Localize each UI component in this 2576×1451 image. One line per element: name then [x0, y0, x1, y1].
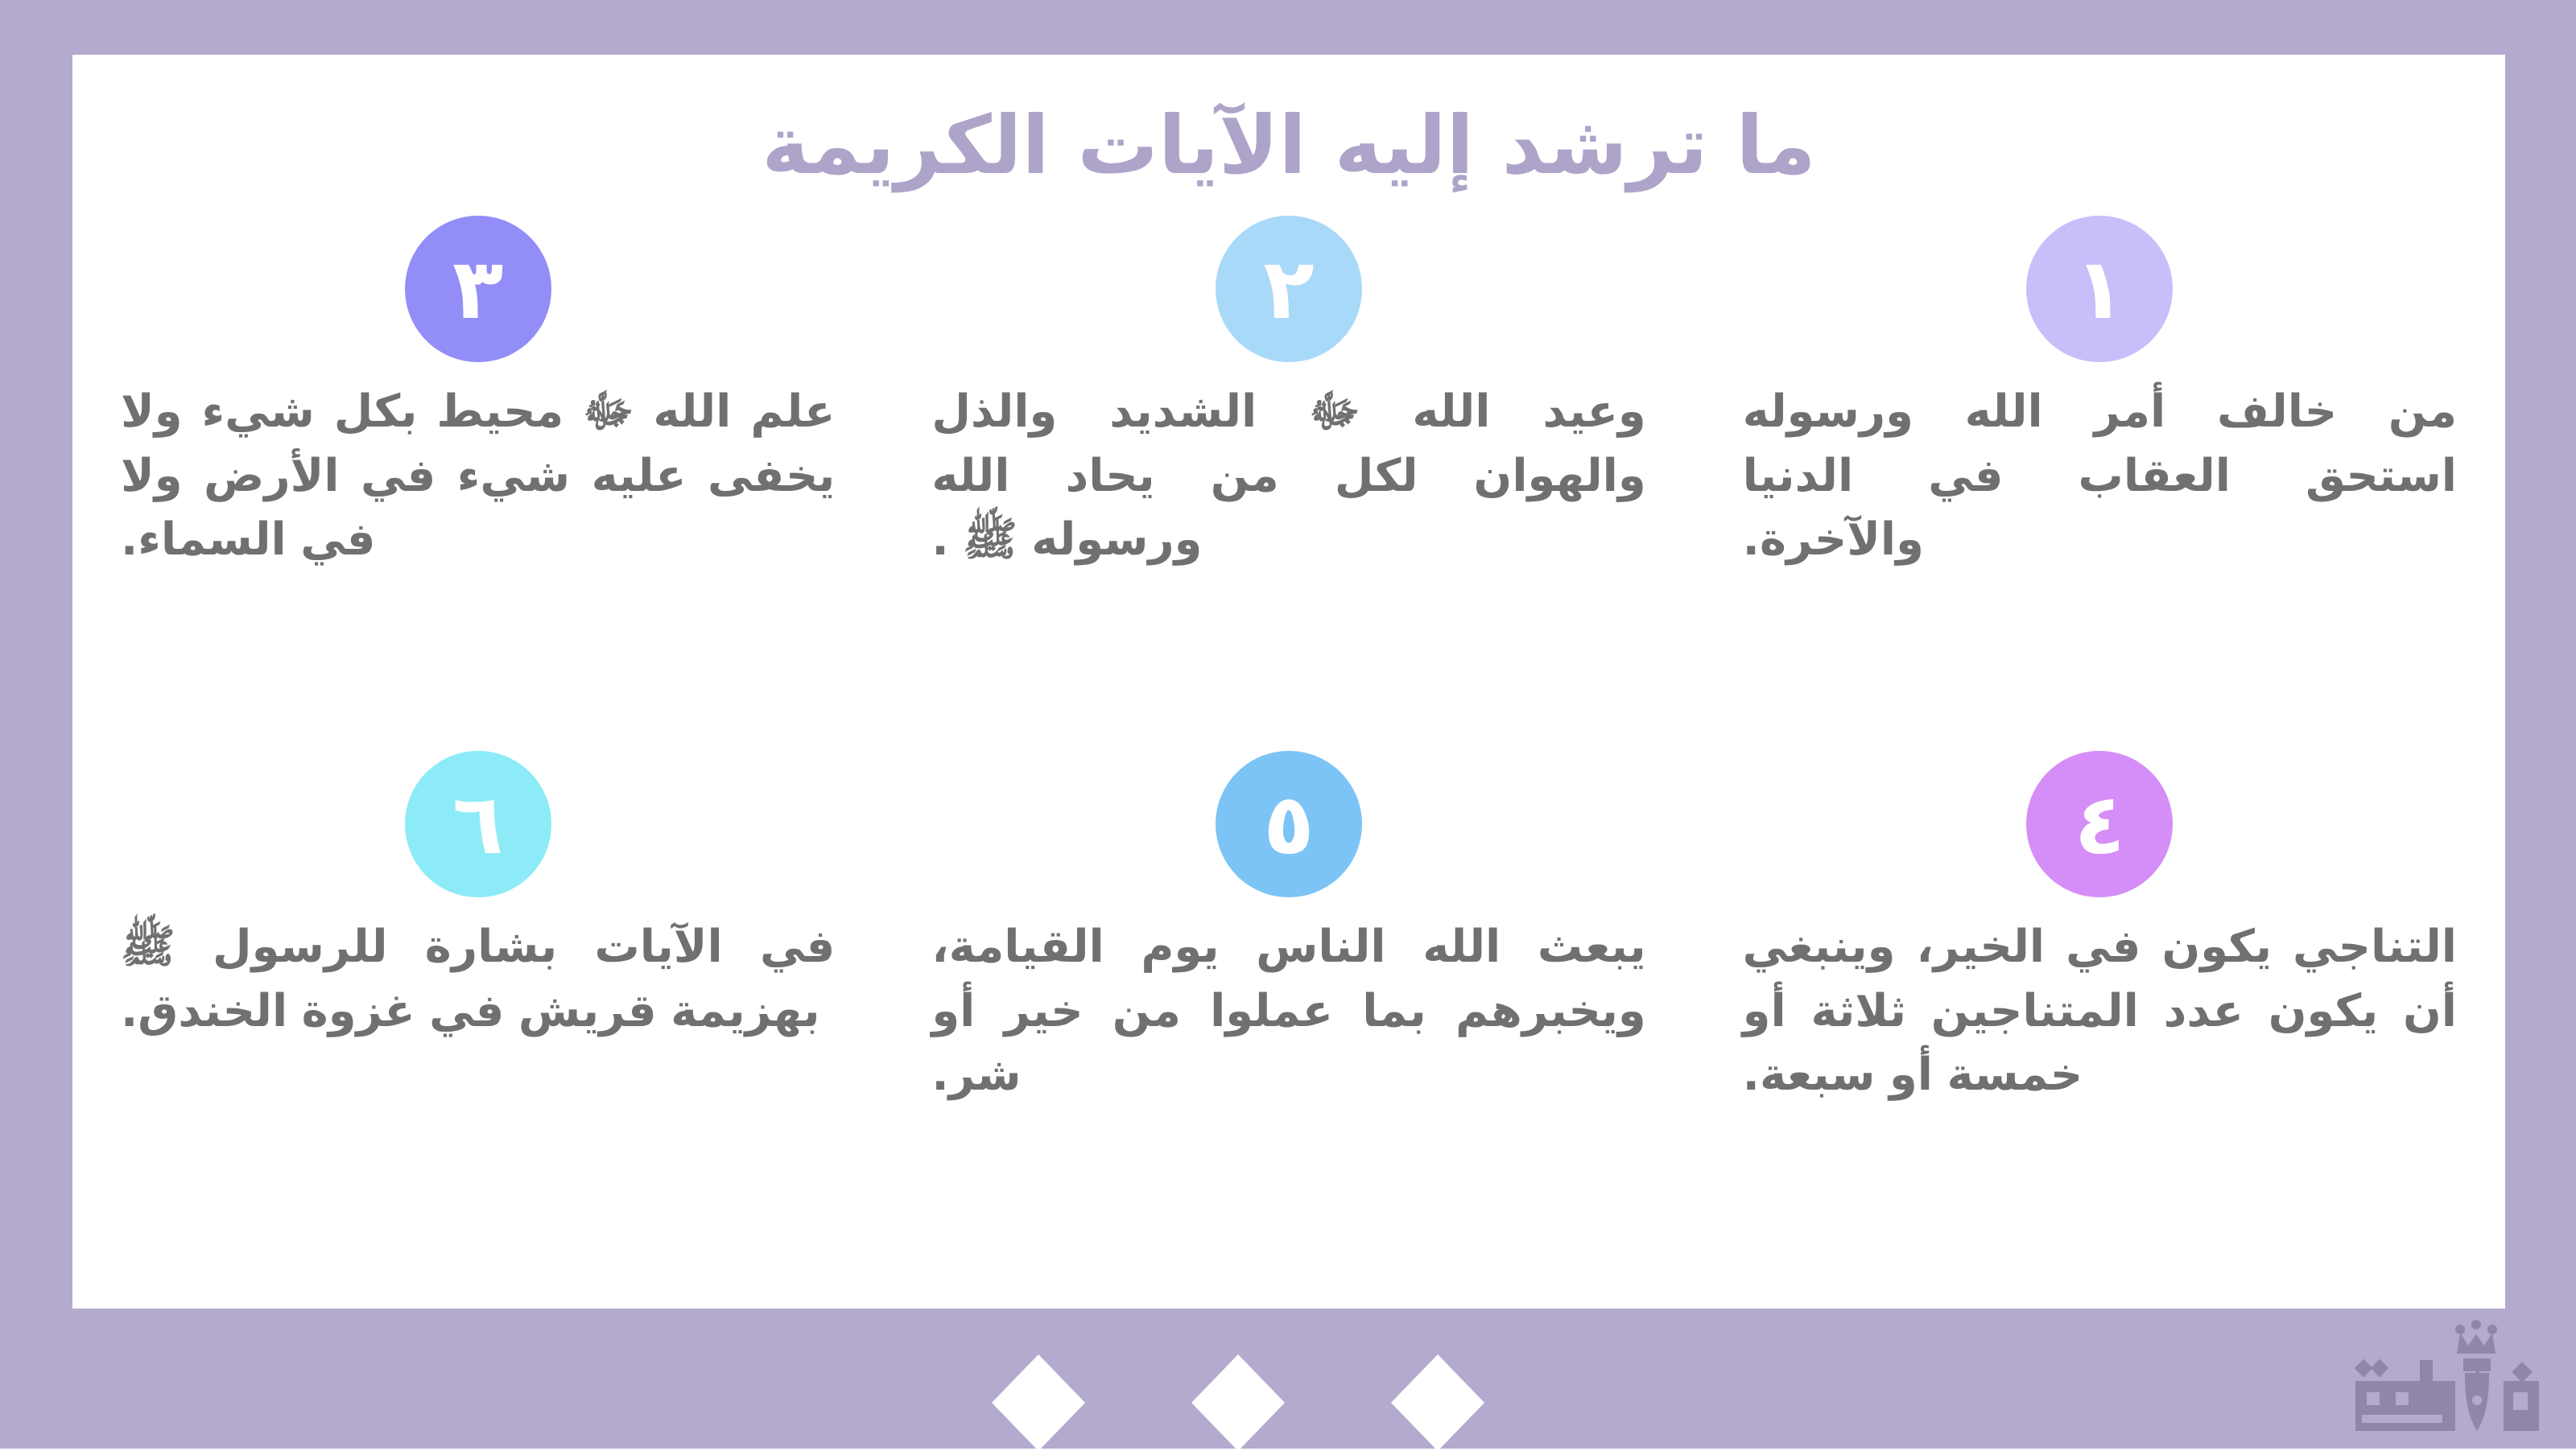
- number-badge-1: ١: [2026, 216, 2173, 362]
- logo-name: فاطمة: [2549, 1442, 2550, 1443]
- list-item-4: ٤ التناجي يكون في الخير، وينبغي أن يكون …: [1695, 751, 2505, 1286]
- number-badge-3: ٣: [405, 216, 551, 362]
- diamond-icon: [1389, 1329, 1486, 1428]
- diamond-icon: [990, 1329, 1087, 1428]
- footer-strip: فاطمة الكندري: [0, 1309, 2576, 1449]
- list-item-3: ٣ علم الله ﷻ محيط بكل شيء ولا يخفى عليه …: [72, 216, 883, 751]
- item-text-5: يبعث الله الناس يوم القيامة، ويخبرهم بما…: [931, 915, 1645, 1107]
- badge-number-label: ٢: [1263, 247, 1314, 331]
- content-card: ما ترشد إليه الآيات الكريمة ١ من خالف أم…: [72, 55, 2505, 1309]
- list-item-5: ٥ يبعث الله الناس يوم القيامة، ويخبرهم ب…: [883, 751, 1694, 1286]
- item-text-6: في الآيات بشارة للرسول ﷺ بهزيمة قريش في …: [121, 915, 835, 1043]
- list-item-2: ٢ وعيد الله ﷻ الشديد والذل والهوان لكل م…: [883, 216, 1694, 751]
- badge-number-label: ٤: [2074, 782, 2125, 866]
- number-badge-5: ٥: [1216, 751, 1362, 897]
- number-badge-4: ٤: [2026, 751, 2173, 897]
- item-text-4: التناجي يكون في الخير، وينبغي أن يكون عد…: [1743, 915, 2457, 1107]
- brand-logo: فاطمة الكندري: [2317, 1313, 2550, 1442]
- number-badge-6: ٦: [405, 751, 551, 897]
- list-item-1: ١ من خالف أمر الله ورسوله استحق العقاب ف…: [1695, 216, 2505, 751]
- badge-number-label: ١: [2074, 247, 2125, 331]
- badge-number-label: ٦: [452, 782, 503, 866]
- items-grid: ١ من خالف أمر الله ورسوله استحق العقاب ف…: [72, 216, 2505, 1286]
- item-text-2: وعيد الله ﷻ الشديد والذل والهوان لكل من …: [931, 380, 1645, 572]
- badge-number-label: ٣: [452, 247, 503, 331]
- slide-root: ما ترشد إليه الآيات الكريمة ١ من خالف أم…: [0, 0, 2576, 1449]
- decorative-diamonds: [990, 1329, 1486, 1428]
- page-title: ما ترشد إليه الآيات الكريمة: [72, 101, 2505, 190]
- diamond-icon: [1190, 1329, 1286, 1428]
- list-item-6: ٦ في الآيات بشارة للرسول ﷺ بهزيمة قريش ف…: [72, 751, 883, 1286]
- logo-subtitle: الكندري: [2549, 1442, 2550, 1443]
- number-badge-2: ٢: [1216, 216, 1362, 362]
- badge-number-label: ٥: [1263, 782, 1314, 866]
- item-text-3: علم الله ﷻ محيط بكل شيء ولا يخفى عليه شي…: [121, 380, 835, 572]
- item-text-1: من خالف أمر الله ورسوله استحق العقاب في …: [1743, 380, 2457, 572]
